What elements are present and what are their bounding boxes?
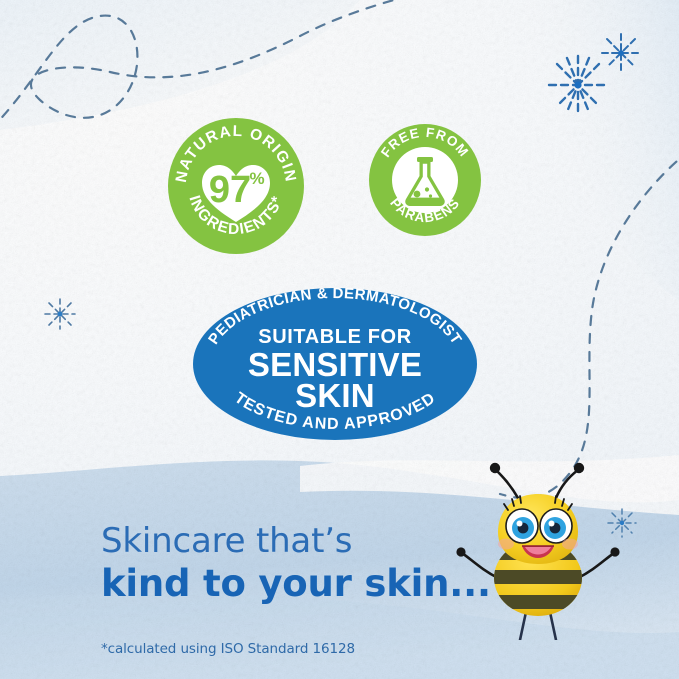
snowflake-top-right-small bbox=[602, 34, 640, 72]
headline-line-2: kind to your skin... bbox=[101, 564, 571, 605]
promo-banner: NATURAL ORIGIN INGREDIENTS* 97 % bbox=[0, 0, 679, 679]
badge-sensitive-line3: SKIN bbox=[295, 377, 375, 414]
footnote-text: *calculated using ISO Standard 16128 bbox=[101, 641, 355, 657]
bee-antennae-tips bbox=[490, 463, 584, 473]
badge-natural-value: 97 bbox=[209, 169, 251, 211]
flight-path-top-left bbox=[0, 0, 470, 130]
bee-antennae bbox=[496, 470, 578, 498]
headline-block: Skincare that’s kind to your skin... bbox=[101, 524, 571, 604]
badge-free-from-parabens: FREE FROM PARABENS bbox=[369, 124, 481, 236]
badge-sensitive-skin: PEDIATRICIAN & DERMATOLOGIST TESTED AND … bbox=[193, 288, 477, 440]
flight-path-right bbox=[500, 150, 679, 498]
badge-natural-unit: % bbox=[249, 169, 264, 188]
badge-sensitive-line1: SUITABLE FOR bbox=[258, 326, 412, 348]
snowflake-top-right-large bbox=[549, 56, 607, 114]
headline-line-1: Skincare that’s bbox=[101, 524, 571, 560]
badge-natural-origin: NATURAL ORIGIN INGREDIENTS* 97 % bbox=[168, 118, 304, 254]
snowflake-left bbox=[45, 299, 75, 329]
bee-legs bbox=[520, 612, 556, 640]
